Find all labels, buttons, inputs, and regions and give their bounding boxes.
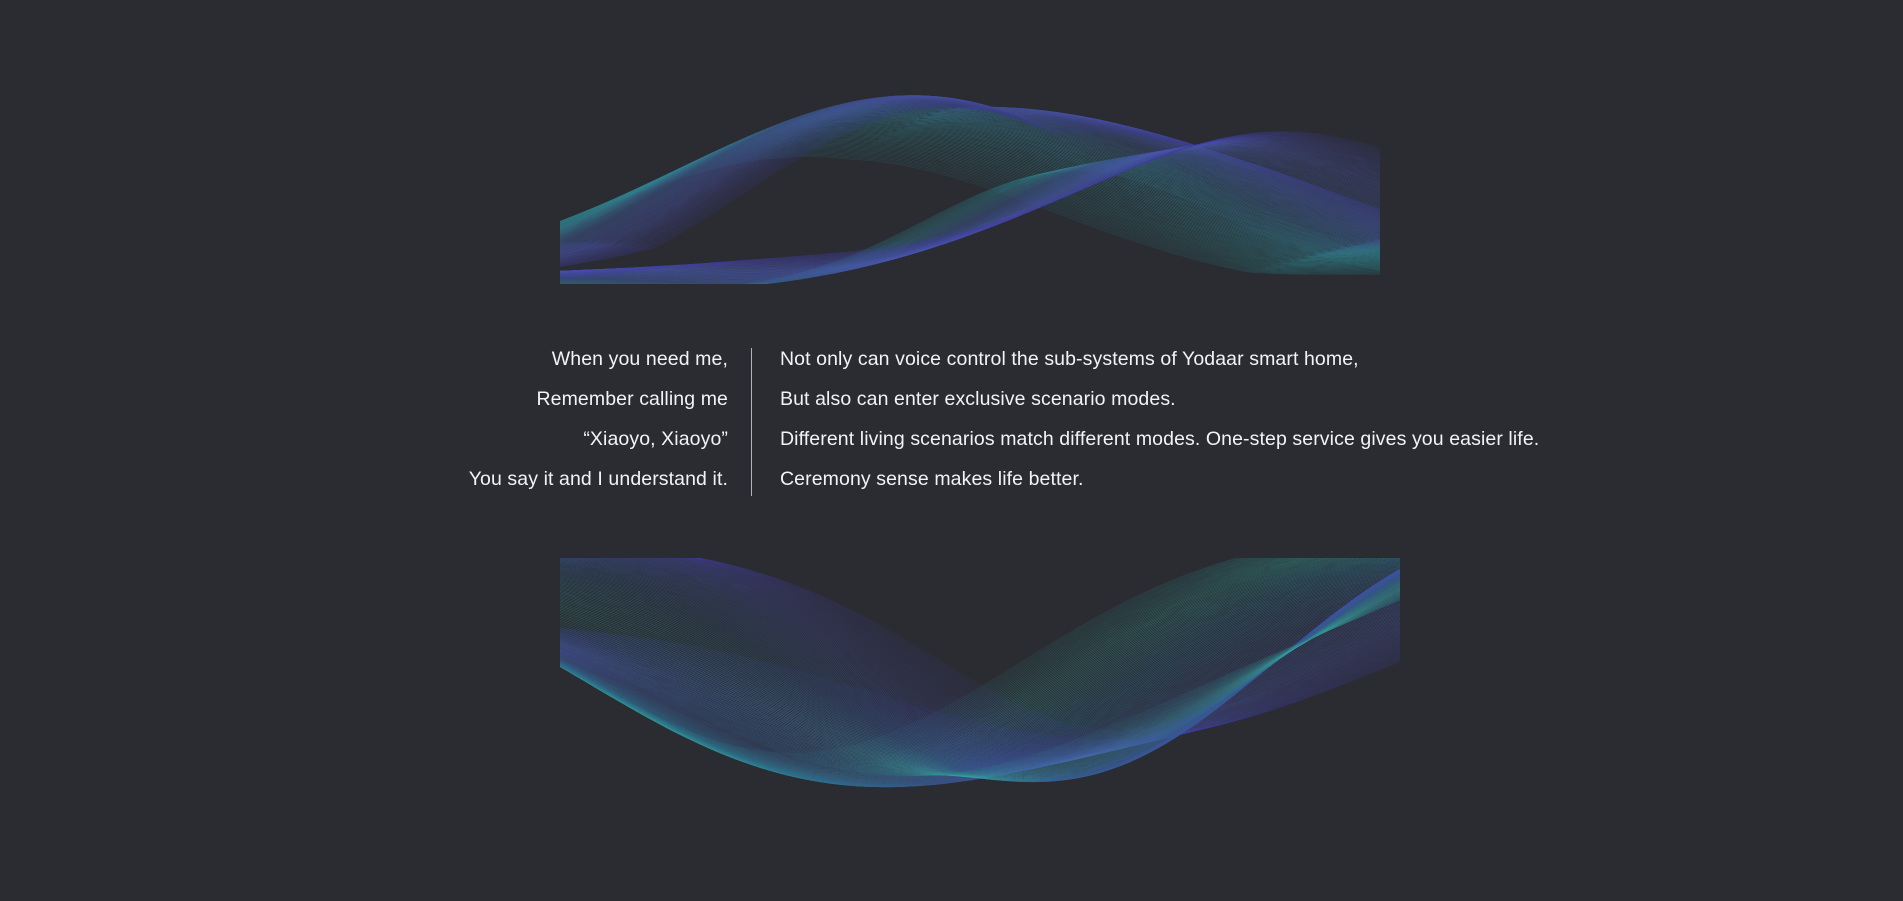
wave-bottom-svg bbox=[560, 558, 1400, 838]
right-line-2: But also can enter exclusive scenario mo… bbox=[780, 383, 1680, 416]
sound-wave-graphic-bottom bbox=[560, 558, 1400, 838]
quote-block: When you need me, Remember calling me “X… bbox=[0, 343, 1903, 503]
left-line-1: When you need me, bbox=[300, 343, 728, 376]
sound-wave-graphic-top bbox=[560, 38, 1380, 284]
column-divider bbox=[751, 348, 752, 496]
left-line-4: You say it and I understand it. bbox=[300, 463, 728, 496]
page-root: When you need me, Remember calling me “X… bbox=[0, 0, 1903, 901]
quote-right-column: Not only can voice control the sub-syste… bbox=[780, 343, 1680, 503]
right-line-1: Not only can voice control the sub-syste… bbox=[780, 343, 1680, 376]
quote-left-column: When you need me, Remember calling me “X… bbox=[300, 343, 728, 503]
wave-top-svg bbox=[560, 38, 1380, 284]
left-line-3: “Xiaoyo, Xiaoyo” bbox=[300, 423, 728, 456]
left-line-2: Remember calling me bbox=[300, 383, 728, 416]
right-line-4: Ceremony sense makes life better. bbox=[780, 463, 1680, 496]
right-line-3: Different living scenarios match differe… bbox=[780, 423, 1680, 456]
